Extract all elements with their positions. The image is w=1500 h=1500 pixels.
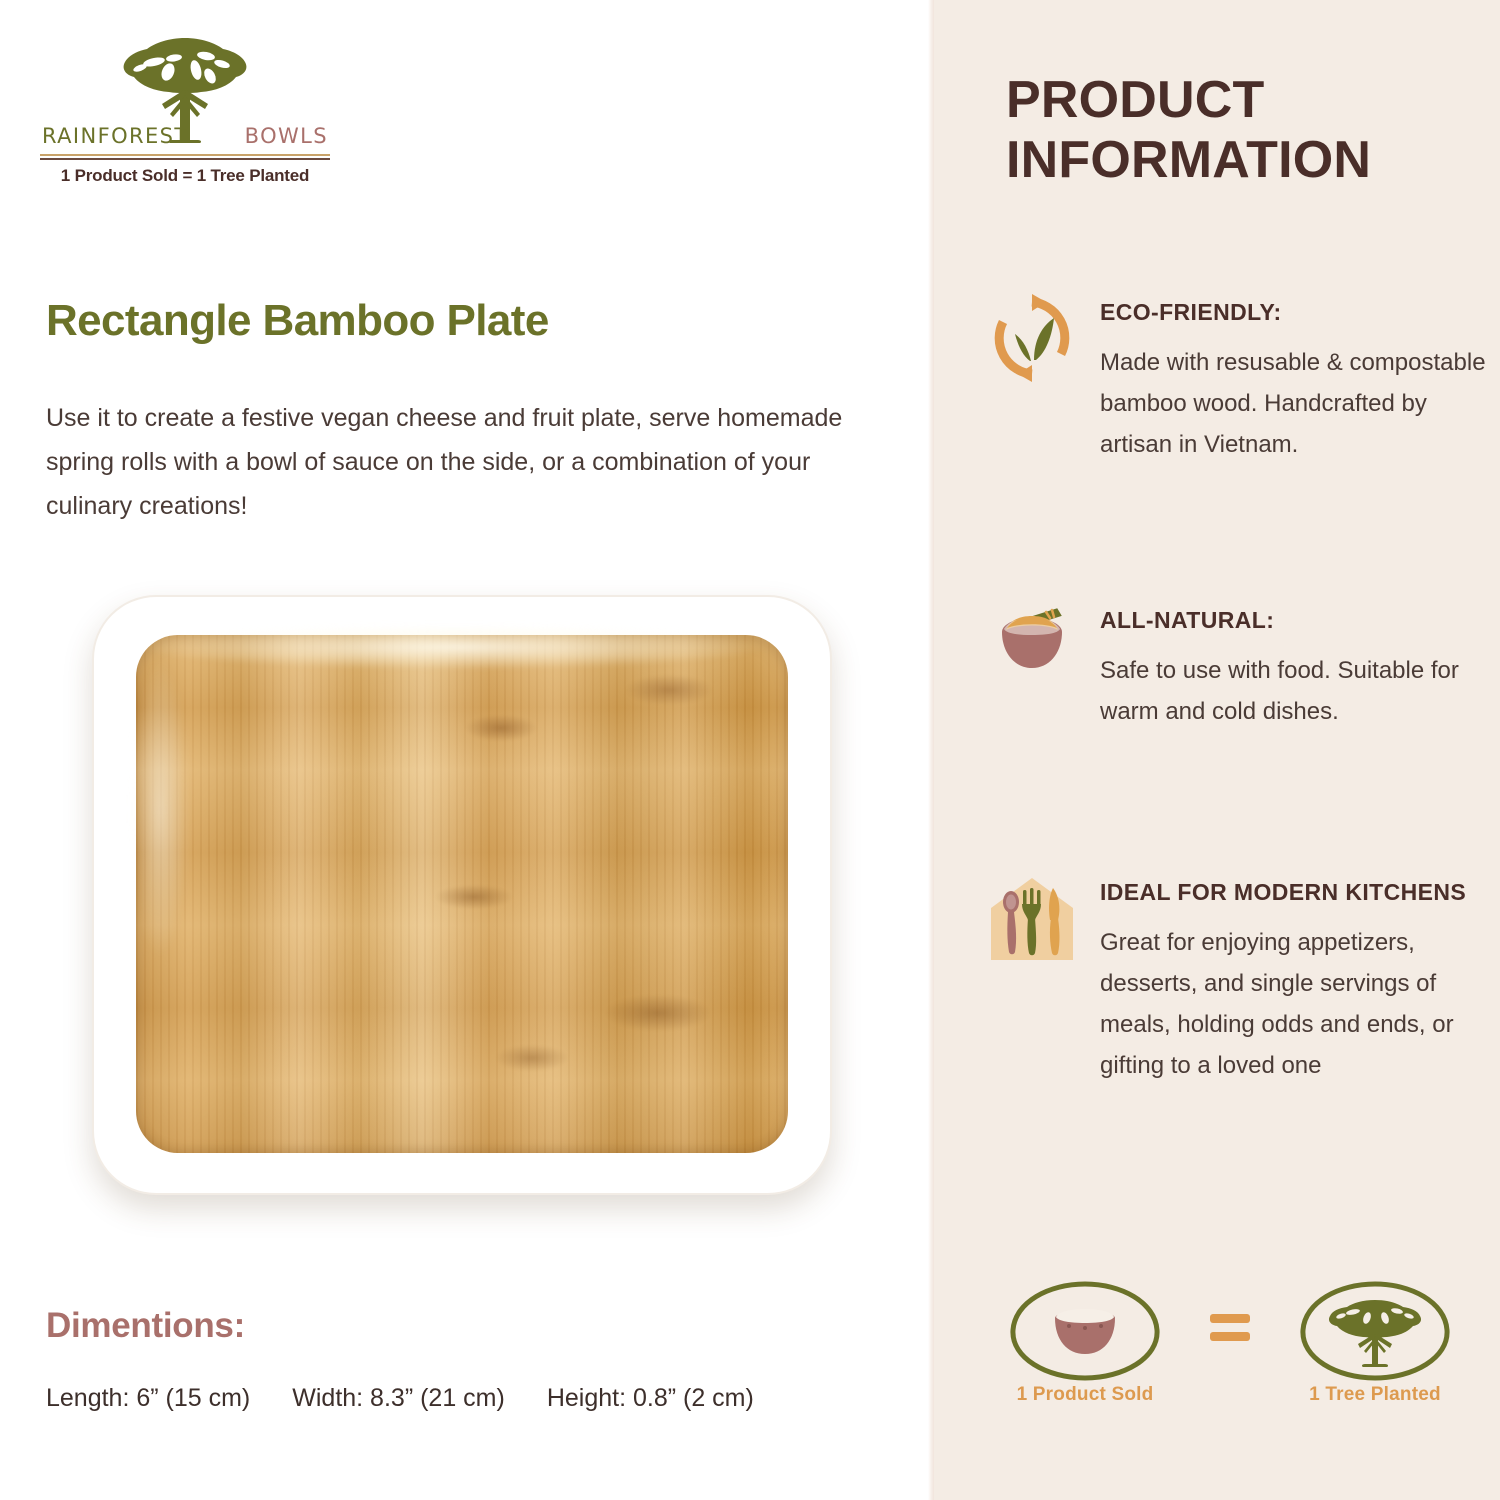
product-photo [62, 575, 862, 1215]
plate-highlight-left [130, 659, 190, 959]
logo-word-rainforest: RAINFOREST [42, 124, 189, 148]
tree-outline-icon [1285, 1278, 1465, 1386]
pledge-tree: 1 Tree Planted [1280, 1278, 1470, 1391]
pledge-tree-label: 1 Tree Planted [1280, 1384, 1470, 1406]
product-information-panel: PRODUCT INFORMATION ECO-FRIENDLY: [934, 0, 1500, 1500]
bowl-with-spoon-icon [986, 600, 1078, 692]
feature-heading: ECO-FRIENDLY: [1100, 296, 1486, 328]
pledge-product-label: 1 Product Sold [990, 1384, 1180, 1406]
product-title: Rectangle Bamboo Plate [46, 296, 549, 346]
brand-tagline: 1 Product Sold = 1 Tree Planted [40, 166, 330, 186]
house-utensils-icon [986, 872, 1078, 964]
feature-body: IDEAL FOR MODERN KITCHENS Great for enjo… [1100, 872, 1486, 1086]
dimension-height: Height: 0.8” (2 cm) [547, 1384, 754, 1413]
left-panel: RAINFOREST BOWLS 1 Product Sold = 1 Tree… [0, 0, 928, 1500]
logo-word-bowls: BOWLS [245, 124, 328, 148]
brand-logo: RAINFOREST BOWLS 1 Product Sold = 1 Tree… [40, 28, 330, 186]
panel-title-line1: PRODUCT [1006, 70, 1371, 130]
panel-title: PRODUCT INFORMATION [1006, 70, 1371, 190]
bowl-outline-icon [995, 1278, 1175, 1386]
feature-text: Safe to use with food. Suitable for warm… [1100, 650, 1486, 732]
plate-inner-well [136, 635, 788, 1153]
pledge-product: 1 Product Sold [990, 1278, 1180, 1391]
feature-all-natural: ALL-NATURAL: Safe to use with food. Suit… [986, 600, 1486, 732]
plate-highlight [144, 625, 764, 669]
feature-body: ALL-NATURAL: Safe to use with food. Suit… [1100, 600, 1486, 732]
feature-modern-kitchens: IDEAL FOR MODERN KITCHENS Great for enjo… [986, 872, 1486, 1086]
equals-icon [1210, 1278, 1250, 1341]
logo-rule-brown [40, 158, 330, 160]
panel-title-line2: INFORMATION [1006, 130, 1371, 190]
feature-heading: IDEAL FOR MODERN KITCHENS [1100, 876, 1486, 908]
bamboo-plate-image [92, 595, 832, 1195]
feature-heading: ALL-NATURAL: [1100, 604, 1486, 636]
dimensions-heading: Dimentions: [46, 1306, 245, 1346]
feature-text: Great for enjoying appetizers, desserts,… [1100, 922, 1486, 1086]
logo-mark: RAINFOREST BOWLS [40, 28, 330, 148]
feature-body: ECO-FRIENDLY: Made with resusable & comp… [1100, 292, 1486, 465]
dimension-length: Length: 6” (15 cm) [46, 1384, 250, 1413]
tree-pledge-badge: 1 Product Sold [990, 1278, 1470, 1458]
product-description: Use it to create a festive vegan cheese … [46, 396, 886, 528]
logo-wordmark: RAINFOREST BOWLS [40, 124, 330, 148]
logo-rule-gold [40, 154, 330, 156]
feature-eco-friendly: ECO-FRIENDLY: Made with resusable & comp… [986, 292, 1486, 465]
feature-text: Made with resusable & compostable bamboo… [1100, 342, 1486, 465]
dimension-width: Width: 8.3” (21 cm) [292, 1384, 505, 1413]
recycle-leaf-icon [986, 292, 1078, 384]
dimensions-row: Length: 6” (15 cm) Width: 8.3” (21 cm) H… [46, 1384, 754, 1413]
infographic-page: RAINFOREST BOWLS 1 Product Sold = 1 Tree… [0, 0, 1500, 1500]
